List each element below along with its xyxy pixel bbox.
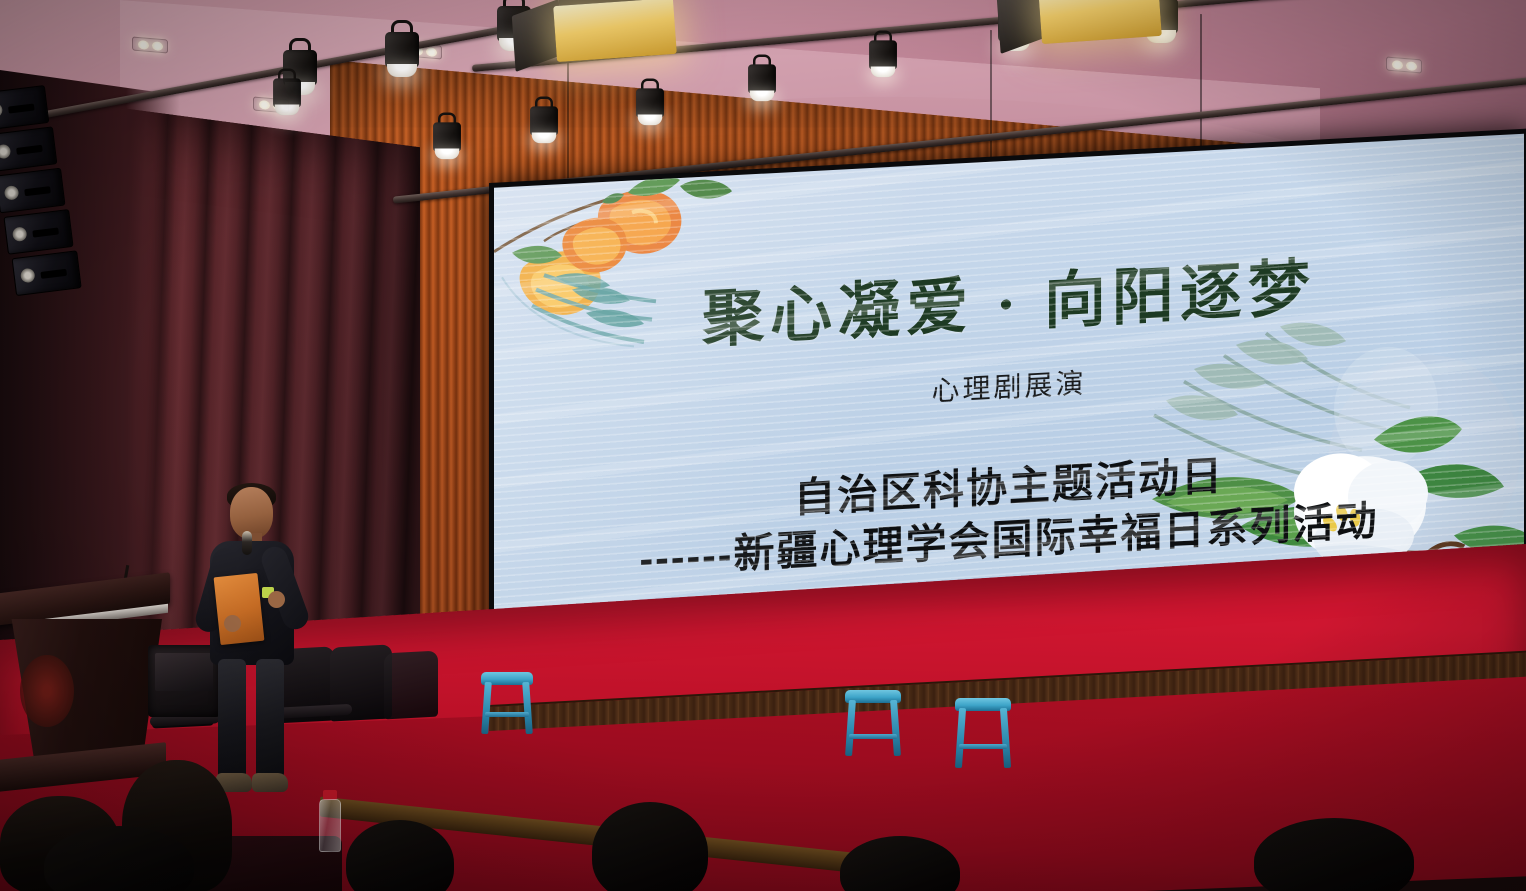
stage-chair [384,651,438,720]
stage-spotlight [869,39,897,82]
presenter [196,487,306,807]
microphone-icon [242,531,252,555]
warm-panel-light [553,0,677,62]
stage-spotlight [433,121,461,164]
stage-spotlight [636,87,664,130]
auditorium-scene: 聚心凝爱 · 向阳逐梦 心理剧展演 自治区科协主题活动日 ------新疆心理学… [0,0,1526,891]
stage-spotlight [385,30,419,82]
audience-head [592,802,708,891]
blue-stool [481,672,533,734]
podium [0,583,170,798]
stage-spotlight [530,105,558,148]
water-bottle [318,790,342,852]
blue-stool [955,698,1011,768]
stage-spotlight [748,63,776,106]
orange-folder [214,573,265,645]
stage-spotlight [273,77,301,120]
blue-stool [845,690,901,756]
